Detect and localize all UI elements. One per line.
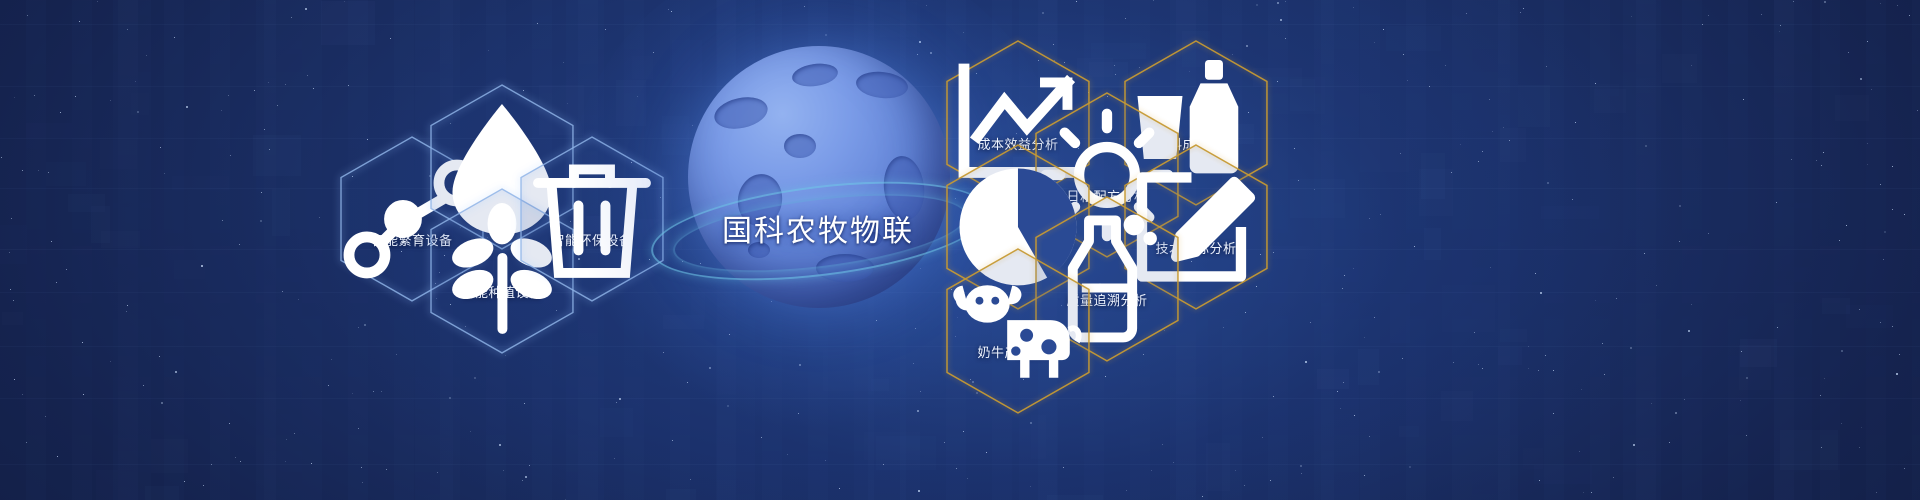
background-block — [1206, 443, 1231, 491]
hero-banner: 智能繁育设备智能挤奶设备智能种植设备智能环保设备 国科农牧物联 成本效益分析饲料… — [0, 0, 1920, 500]
background-block — [1594, 89, 1626, 113]
background-block — [1358, 349, 1379, 385]
hex-content: 奶牛产能分析 — [946, 248, 1090, 414]
background-block — [1265, 77, 1325, 114]
background-block — [1822, 298, 1850, 314]
background-block — [600, 408, 633, 436]
milk-bottle-icon — [1090, 248, 1124, 282]
center-planet-group: 国科农牧物联 — [648, 28, 988, 368]
background-block — [1269, 246, 1310, 260]
background-block — [1441, 391, 1473, 421]
background-block — [1518, 85, 1550, 127]
background-block — [1390, 294, 1410, 343]
cow-icon — [1001, 300, 1035, 334]
sun-icon — [1090, 144, 1124, 178]
background-block — [1290, 179, 1345, 219]
background-block — [131, 93, 149, 115]
line-chart-icon — [1001, 92, 1035, 126]
background-block — [1424, 228, 1441, 260]
background-block — [2, 312, 24, 325]
background-block — [145, 486, 179, 500]
background-block — [1031, 415, 1046, 459]
background-block — [151, 439, 188, 473]
background-block — [1846, 305, 1893, 328]
background-block — [1386, 26, 1441, 51]
background-block — [1421, 153, 1446, 199]
background-scanline — [0, 464, 1920, 465]
background-block — [1089, 62, 1129, 88]
pie-chart-icon — [1001, 196, 1035, 230]
background-block — [1534, 465, 1592, 484]
background-block — [46, 162, 86, 186]
background-block — [68, 194, 106, 211]
background-block — [253, 135, 301, 176]
background-block — [26, 123, 73, 138]
background-block — [1498, 347, 1522, 365]
background-block — [1359, 138, 1409, 171]
node-graph-icon — [395, 188, 429, 222]
background-block — [1662, 54, 1697, 84]
background-block — [666, 489, 696, 500]
background-block — [0, 225, 27, 264]
background-block — [96, 470, 118, 500]
background-block — [101, 231, 140, 247]
hex-tile-7[interactable]: 奶牛产能分析 — [946, 248, 1090, 414]
background-block — [272, 189, 290, 236]
background-block — [1500, 128, 1526, 163]
water-drop-icon — [485, 136, 519, 170]
background-block — [1739, 345, 1771, 390]
background-block — [1047, 495, 1103, 500]
background-block — [1317, 369, 1349, 390]
background-block — [1500, 329, 1527, 342]
plant-sprout-icon — [485, 240, 519, 274]
pencil-edit-icon — [1179, 196, 1213, 230]
background-block — [1541, 206, 1599, 219]
background-block — [1835, 95, 1869, 122]
background-block — [1399, 426, 1419, 437]
background-block — [100, 140, 137, 170]
background-block — [174, 260, 205, 280]
milk-bottle-glass-icon — [1179, 92, 1213, 126]
page-title: 国科农牧物联 — [648, 206, 988, 250]
